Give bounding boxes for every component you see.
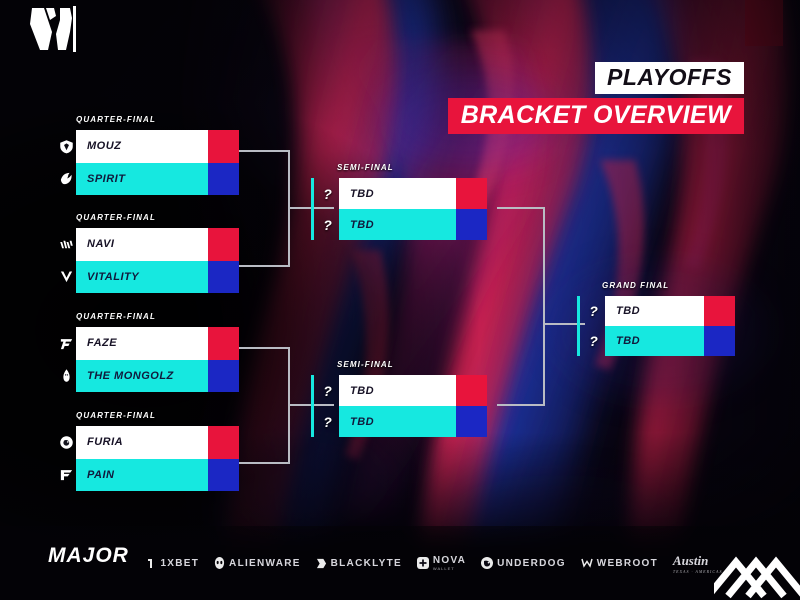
team-name: TBD: [339, 219, 456, 231]
team-row-bottom-grand-final[interactable]: TBD: [605, 326, 735, 356]
team-name: TBD: [339, 188, 456, 200]
score-block-blue: [456, 406, 487, 437]
placeholder-marks-sf-2: ? ?: [321, 375, 334, 437]
question-mark-icon: ?: [321, 375, 334, 406]
team-logos-qf-3: [57, 327, 76, 392]
match-rows-qf-4: FURIA PAIN: [76, 426, 239, 491]
score-block-blue: [704, 326, 735, 356]
team-logos-qf-4: [57, 426, 76, 491]
major-emblem-icon: [26, 6, 84, 52]
accent-bar-sf-2: [311, 375, 314, 437]
sponsor-underdog[interactable]: UNDERDOG: [481, 557, 566, 569]
page-title: PLAYOFFS BRACKET OVERVIEW: [448, 62, 744, 134]
match-rows-sf-2: TBD TBD: [339, 375, 487, 437]
title-bracket-overview: BRACKET OVERVIEW: [448, 98, 744, 134]
event-mark-major: MAJOR: [48, 544, 129, 568]
alienware-head-icon: [214, 557, 225, 569]
bracket-stage: PLAYOFFS BRACKET OVERVIEW QUARTER-FINAL …: [0, 0, 800, 600]
sponsor-strip: 1XBET ALIENWARE BLACKLYTE NOVA: [140, 546, 730, 580]
question-mark-icon: ?: [587, 296, 600, 326]
team-row-bottom-qf-3[interactable]: THE MONGOLZ: [76, 360, 239, 393]
sponsor-subtitle: WALLET: [433, 566, 466, 571]
accent-bar-grand-final: [577, 296, 580, 356]
team-row-top-qf-4[interactable]: FURIA: [76, 426, 239, 459]
blacklyte-logo-icon: [316, 558, 327, 569]
onexbet-logo-icon: [147, 558, 156, 569]
sponsor-alienware[interactable]: ALIENWARE: [214, 557, 301, 569]
team-name: THE MONGOLZ: [76, 370, 208, 382]
match-card-sf-2[interactable]: ? ? TBD TBD: [311, 375, 487, 437]
accent-bar-sf-1: [311, 178, 314, 240]
round-label-qf-3: QUARTER-FINAL: [76, 312, 156, 321]
round-label-qf-2: QUARTER-FINAL: [76, 213, 156, 222]
sponsor-name-wrap: NOVA WALLET: [433, 555, 466, 571]
connector-gf-bottom: [497, 404, 545, 406]
team-name: FAZE: [76, 337, 208, 349]
connector-qf4-bottom: [238, 462, 290, 464]
team-name: TBD: [339, 385, 456, 397]
match-rows-qf-3: FAZE THE MONGOLZ: [76, 327, 239, 392]
footer-bar: MAJOR 1XBET ALIENWARE BLACKLYTE: [0, 526, 800, 600]
team-row-bottom-qf-2[interactable]: VITALITY: [76, 261, 239, 294]
mouz-shield-icon: [57, 130, 76, 163]
score-block-red: [456, 375, 487, 406]
connector-qf3-top: [238, 347, 290, 349]
sponsor-webroot[interactable]: WEBROOT: [581, 558, 658, 569]
connector-gf-top: [497, 207, 545, 209]
match-rows-sf-1: TBD TBD: [339, 178, 487, 240]
team-logos-qf-1: [57, 130, 76, 195]
sponsor-blacklyte[interactable]: BLACKLYTE: [316, 558, 402, 569]
score-block-blue: [208, 163, 239, 196]
navi-wings-icon: [57, 228, 76, 261]
score-block-blue: [208, 261, 239, 294]
question-mark-icon: ?: [321, 406, 334, 437]
team-name: NAVI: [76, 238, 208, 250]
match-card-qf-4[interactable]: FURIA PAIN: [57, 426, 239, 491]
team-logos-qf-2: [57, 228, 76, 293]
connector-qf1-top: [238, 150, 290, 152]
score-block-red: [208, 228, 239, 261]
title-playoffs: PLAYOFFS: [595, 62, 744, 94]
team-name: FURIA: [76, 436, 208, 448]
score-block-red: [208, 130, 239, 163]
round-label-qf-4: QUARTER-FINAL: [76, 411, 156, 420]
match-card-qf-2[interactable]: NAVI VITALITY: [57, 228, 239, 293]
team-row-bottom-sf-1[interactable]: TBD: [339, 209, 487, 240]
team-name: TBD: [605, 305, 704, 317]
score-block-red: [456, 178, 487, 209]
sponsor-name: NOVA: [433, 555, 466, 566]
nova-wallet-icon: [417, 557, 429, 569]
sponsor-name: ALIENWARE: [229, 558, 301, 569]
team-name: TBD: [339, 416, 456, 428]
team-name: MOUZ: [76, 140, 208, 152]
sponsor-nova[interactable]: NOVA WALLET: [417, 555, 466, 571]
score-block-red: [208, 327, 239, 360]
score-block-blue: [456, 209, 487, 240]
round-label-sf-2: SEMI-FINAL: [337, 360, 394, 369]
match-card-grand-final[interactable]: ? ? TBD TBD: [577, 296, 735, 356]
connector-qf2-bottom: [238, 265, 290, 267]
question-mark-icon: ?: [587, 326, 600, 356]
team-row-bottom-qf-4[interactable]: PAIN: [76, 459, 239, 492]
match-rows-qf-2: NAVI VITALITY: [76, 228, 239, 293]
sponsor-1xbet[interactable]: 1XBET: [147, 558, 199, 569]
score-block-blue: [208, 360, 239, 393]
faze-f-icon: [57, 327, 76, 360]
team-name: PAIN: [76, 469, 208, 481]
team-row-top-qf-1[interactable]: MOUZ: [76, 130, 239, 163]
score-block-blue: [208, 459, 239, 492]
team-row-top-qf-3[interactable]: FAZE: [76, 327, 239, 360]
webroot-w-icon: [581, 558, 593, 568]
match-card-qf-1[interactable]: MOUZ SPIRIT: [57, 130, 239, 195]
spirit-wolf-icon: [57, 163, 76, 196]
team-row-bottom-sf-2[interactable]: TBD: [339, 406, 487, 437]
chevron-arrows-icon: [714, 518, 800, 600]
team-row-bottom-qf-1[interactable]: SPIRIT: [76, 163, 239, 196]
sponsor-name: 1XBET: [160, 558, 199, 569]
connector-gf-vert: [543, 207, 545, 406]
placeholder-marks-grand-final: ? ?: [587, 296, 600, 356]
furia-panther-icon: [57, 426, 76, 459]
pain-gaming-icon: [57, 459, 76, 492]
match-rows-grand-final: TBD TBD: [605, 296, 735, 356]
sponsor-name: Austin: [673, 553, 708, 568]
round-label-sf-1: SEMI-FINAL: [337, 163, 394, 172]
round-label-grand-final: GRAND FINAL: [602, 281, 669, 290]
match-rows-qf-1: MOUZ SPIRIT: [76, 130, 239, 195]
match-card-sf-1[interactable]: ? ? TBD TBD: [311, 178, 487, 240]
team-name: TBD: [605, 335, 704, 347]
sponsor-name: BLACKLYTE: [331, 558, 402, 569]
team-row-top-sf-1[interactable]: TBD: [339, 178, 487, 209]
question-mark-icon: ?: [321, 178, 334, 209]
mongolz-eagle-icon: [57, 360, 76, 393]
score-block-red: [704, 296, 735, 326]
round-label-qf-1: QUARTER-FINAL: [76, 115, 156, 124]
sponsor-name: WEBROOT: [597, 558, 658, 569]
team-row-top-qf-2[interactable]: NAVI: [76, 228, 239, 261]
underdog-dog-icon: [481, 557, 493, 569]
team-name: SPIRIT: [76, 173, 208, 185]
score-block-red: [208, 426, 239, 459]
placeholder-marks-sf-1: ? ?: [321, 178, 334, 240]
match-card-qf-3[interactable]: FAZE THE MONGOLZ: [57, 327, 239, 392]
team-row-top-grand-final[interactable]: TBD: [605, 296, 735, 326]
vitality-bee-icon: [57, 261, 76, 294]
sponsor-name: UNDERDOG: [497, 558, 566, 569]
question-mark-icon: ?: [321, 209, 334, 240]
team-name: VITALITY: [76, 271, 208, 283]
team-row-top-sf-2[interactable]: TBD: [339, 375, 487, 406]
